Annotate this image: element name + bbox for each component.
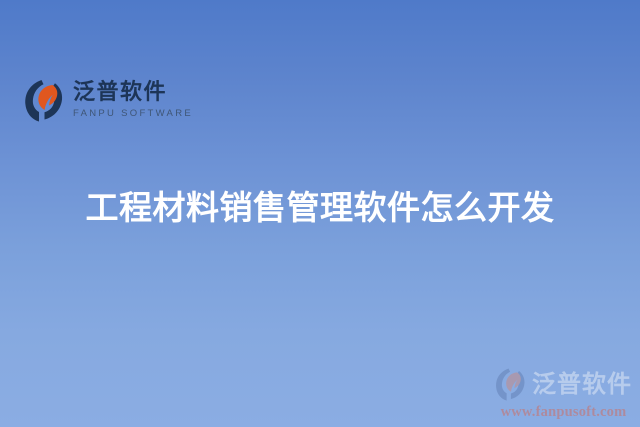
watermark-url: www.fanpusoft.com — [501, 405, 627, 420]
page-title: 工程材料销售管理软件怎么开发 — [0, 181, 640, 229]
banner-graphic: 泛普软件 FANPU SOFTWARE 工程材料销售管理软件怎么开发 泛普软件 … — [0, 0, 640, 427]
fanpu-swoosh-logo-icon — [24, 78, 64, 122]
brand-wordmark: 泛普软件 FANPU SOFTWARE — [73, 82, 193, 119]
watermark-name-cn: 泛普软件 — [532, 372, 632, 396]
brand-name-en: FANPU SOFTWARE — [73, 109, 193, 119]
watermark: 泛普软件 www.fanpusoft.com — [495, 367, 632, 420]
watermark-brand-row: 泛普软件 — [495, 367, 632, 401]
fanpu-swoosh-watermark-icon — [495, 367, 526, 401]
brand-logo: 泛普软件 FANPU SOFTWARE — [24, 78, 193, 122]
brand-name-cn: 泛普软件 — [73, 82, 193, 104]
